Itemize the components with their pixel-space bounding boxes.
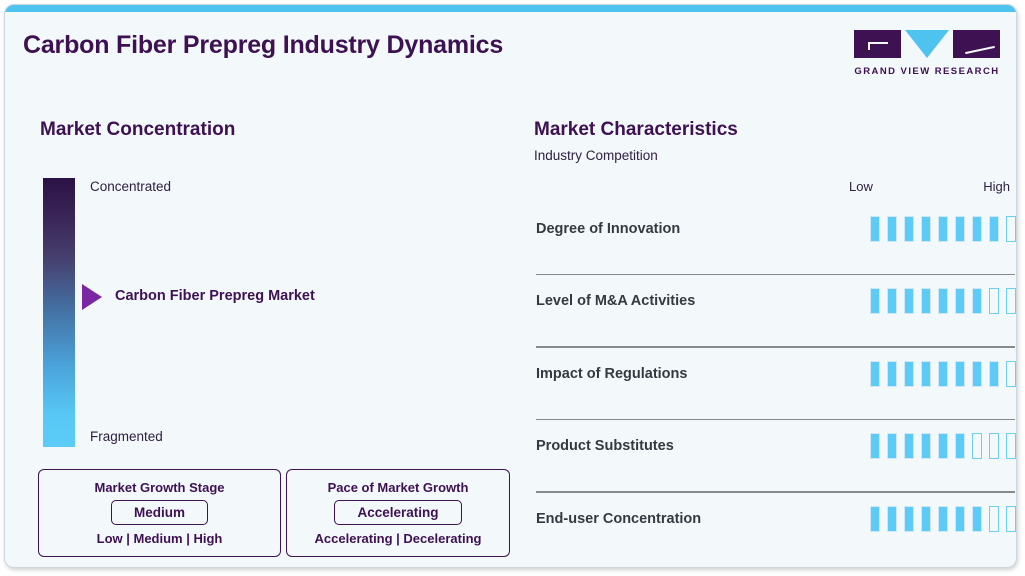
- rating-segment-filled: [972, 506, 982, 532]
- market-position-marker-icon: [82, 284, 102, 310]
- market-characteristics-subtitle: Industry Competition: [534, 148, 658, 163]
- market-characteristics-panel: Market Characteristics Industry Competit…: [520, 5, 1017, 567]
- rating-segment-filled: [989, 216, 999, 242]
- characteristic-rating-bars: [870, 216, 1016, 242]
- characteristic-row: Product Substitutes: [534, 420, 1016, 492]
- rating-segment-filled: [870, 433, 880, 459]
- rating-segment-filled: [887, 506, 897, 532]
- characteristic-label: Product Substitutes: [536, 438, 674, 454]
- rating-segment-empty: [1006, 506, 1016, 532]
- rating-segment-filled: [870, 288, 880, 314]
- rating-segment-filled: [938, 506, 948, 532]
- rating-segment-filled: [972, 361, 982, 387]
- rating-segment-filled: [921, 216, 931, 242]
- rating-segment-filled: [955, 361, 965, 387]
- rating-segment-filled: [904, 433, 914, 459]
- pace-of-market-growth-title: Pace of Market Growth: [328, 480, 469, 495]
- rating-segment-empty: [1006, 433, 1016, 459]
- market-growth-stage-title: Market Growth Stage: [94, 480, 224, 495]
- rating-segment-empty: [1006, 288, 1016, 314]
- characteristic-label: Level of M&A Activities: [536, 293, 695, 309]
- rating-segment-filled: [938, 433, 948, 459]
- rating-segment-filled: [921, 506, 931, 532]
- rating-segment-empty: [1006, 216, 1016, 242]
- pace-of-market-growth-box: Pace of Market Growth Accelerating Accel…: [286, 469, 510, 557]
- rating-segment-filled: [870, 361, 880, 387]
- rating-segment-filled: [921, 433, 931, 459]
- scale-label-concentrated: Concentrated: [90, 179, 171, 194]
- rating-segment-filled: [938, 288, 948, 314]
- characteristic-label: Impact of Regulations: [536, 366, 687, 382]
- rating-segment-filled: [904, 216, 914, 242]
- market-growth-stage-scale: Low | Medium | High: [97, 531, 223, 546]
- characteristic-label: End-user Concentration: [536, 511, 701, 527]
- characteristics-rows: Degree of InnovationLevel of M&A Activit…: [534, 203, 1016, 565]
- market-growth-stage-value: Medium: [111, 500, 208, 525]
- rating-segment-empty: [1006, 361, 1016, 387]
- rating-segment-empty: [989, 288, 999, 314]
- market-concentration-title: Market Concentration: [40, 119, 235, 141]
- rating-segment-filled: [904, 288, 914, 314]
- rating-segment-filled: [887, 433, 897, 459]
- scale-label-fragmented: Fragmented: [90, 429, 163, 444]
- rating-segment-empty: [972, 433, 982, 459]
- rating-segment-filled: [921, 361, 931, 387]
- characteristic-rating-bars: [870, 433, 1016, 459]
- rating-segment-filled: [887, 288, 897, 314]
- pace-of-market-growth-scale: Accelerating | Decelerating: [315, 531, 482, 546]
- rating-segment-filled: [955, 288, 965, 314]
- rating-segment-filled: [904, 361, 914, 387]
- market-concentration-panel: Market Concentration Concentrated Fragme…: [5, 5, 520, 567]
- rating-segment-filled: [989, 361, 999, 387]
- scale-header: Low High: [845, 179, 1010, 195]
- characteristic-row: Level of M&A Activities: [534, 275, 1016, 347]
- rating-segment-filled: [938, 216, 948, 242]
- characteristic-label: Degree of Innovation: [536, 221, 680, 237]
- rating-segment-filled: [870, 216, 880, 242]
- characteristic-row: Degree of Innovation: [534, 203, 1016, 275]
- characteristic-rating-bars: [870, 288, 1016, 314]
- pace-of-market-growth-value: Accelerating: [334, 500, 461, 525]
- market-characteristics-title: Market Characteristics: [534, 119, 738, 141]
- characteristic-row: Impact of Regulations: [534, 348, 1016, 420]
- rating-segment-filled: [887, 216, 897, 242]
- rating-segment-filled: [955, 433, 965, 459]
- rating-segment-filled: [921, 288, 931, 314]
- rating-segment-empty: [989, 506, 999, 532]
- scale-header-low: Low: [849, 179, 873, 194]
- market-position-label: Carbon Fiber Prepreg Market: [115, 288, 315, 304]
- rating-segment-filled: [870, 506, 880, 532]
- characteristic-rating-bars: [870, 361, 1016, 387]
- scale-header-high: High: [983, 179, 1010, 194]
- market-growth-stage-box: Market Growth Stage Medium Low | Medium …: [38, 469, 281, 557]
- characteristic-row: End-user Concentration: [534, 493, 1016, 565]
- characteristic-rating-bars: [870, 506, 1016, 532]
- rating-segment-filled: [955, 216, 965, 242]
- rating-segment-filled: [887, 361, 897, 387]
- rating-segment-filled: [972, 216, 982, 242]
- rating-segment-filled: [904, 506, 914, 532]
- rating-segment-filled: [955, 506, 965, 532]
- rating-segment-filled: [938, 361, 948, 387]
- concentration-gradient-bar: [43, 178, 75, 447]
- rating-segment-empty: [989, 433, 999, 459]
- infographic-card: Carbon Fiber Prepreg Industry Dynamics G…: [4, 4, 1017, 568]
- rating-segment-filled: [972, 288, 982, 314]
